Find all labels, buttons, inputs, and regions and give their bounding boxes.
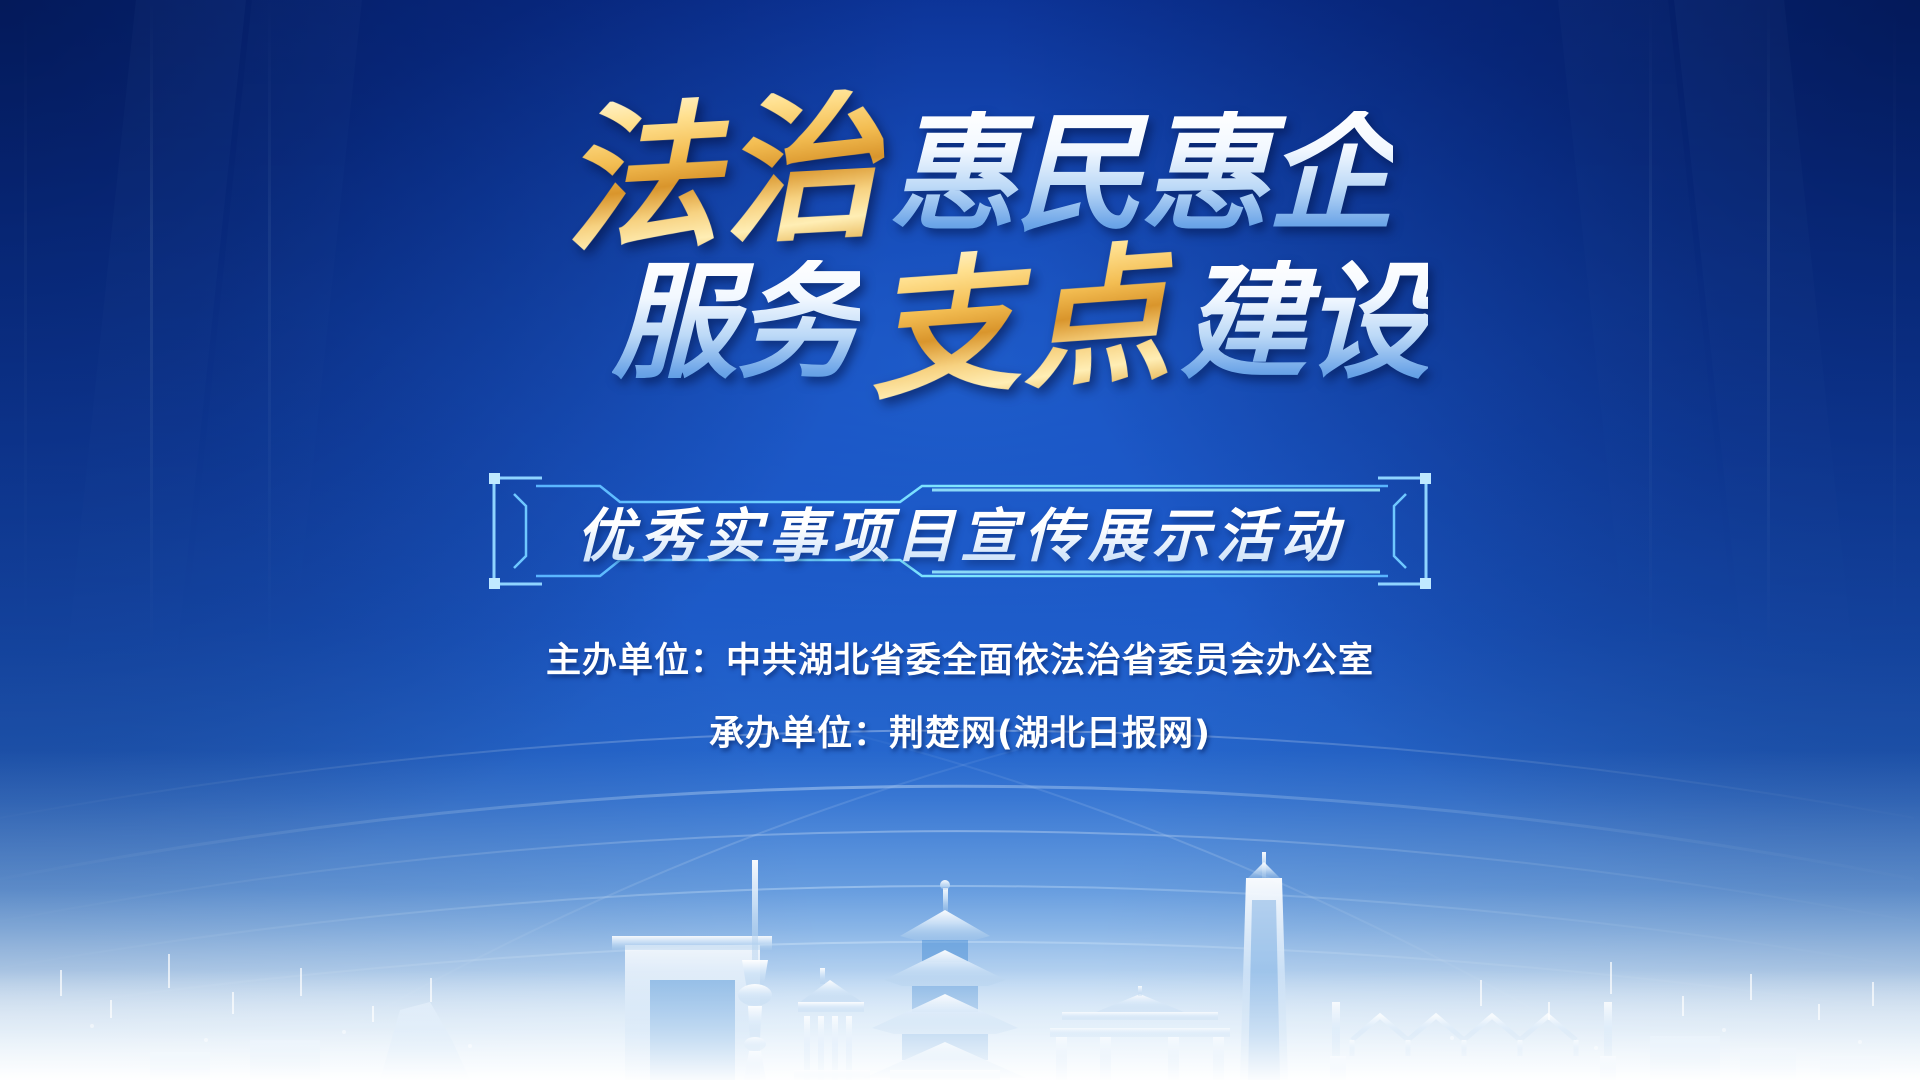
title-line-1: 法治 惠民惠企	[30, 96, 1920, 254]
landmark-greenland-center	[1240, 852, 1288, 1080]
skyline-right-blocks	[1650, 1036, 1880, 1080]
organizer-credits: 主办单位：中共湖北省委全面依法治省委员会办公室 承办单位：荆楚网(湖北日报网)	[410, 632, 1510, 778]
credit-host: 主办单位：中共湖北省委全面依法治省委员会办公室	[410, 632, 1510, 683]
landmark-yellow-crane-tower	[864, 880, 1026, 1080]
landmark-qintai-theatre	[612, 936, 772, 1080]
poster-title: 法治 惠民惠企 服务 支点 建设	[0, 96, 1920, 398]
title-word-fuwu: 服务	[612, 260, 860, 386]
title-line-2: 服务 支点 建设	[120, 248, 1920, 398]
subtitle-frame: 优秀实事项目宣传展示活动	[480, 472, 1440, 590]
wuhan-skyline-silhouette	[0, 740, 1920, 1080]
landmark-yangtze-bridge	[1330, 1002, 1620, 1056]
title-word-fazhi: 法治	[553, 88, 889, 263]
ground-glow	[0, 750, 1920, 1080]
ground-sparkles	[0, 850, 1920, 1080]
skyline-left-blocks	[150, 1002, 470, 1080]
poster-stage: 法治 惠民惠企 服务 支点 建设	[0, 0, 1920, 1080]
bridge-piers	[1330, 1056, 1616, 1080]
landmark-wuhan-tv-tower	[738, 860, 772, 1080]
title-word-huiminhuiqi: 惠民惠企	[889, 111, 1393, 239]
landmark-memorial-archway	[1050, 986, 1230, 1080]
credit-organizer: 承办单位：荆楚网(湖北日报网)	[410, 705, 1510, 756]
title-word-zhidian: 支点	[859, 237, 1181, 408]
subtitle-text: 优秀实事项目宣传展示活动	[480, 472, 1440, 590]
title-word-jianshe: 建设	[1180, 260, 1428, 386]
landmark-hubei-museum	[794, 968, 870, 1080]
